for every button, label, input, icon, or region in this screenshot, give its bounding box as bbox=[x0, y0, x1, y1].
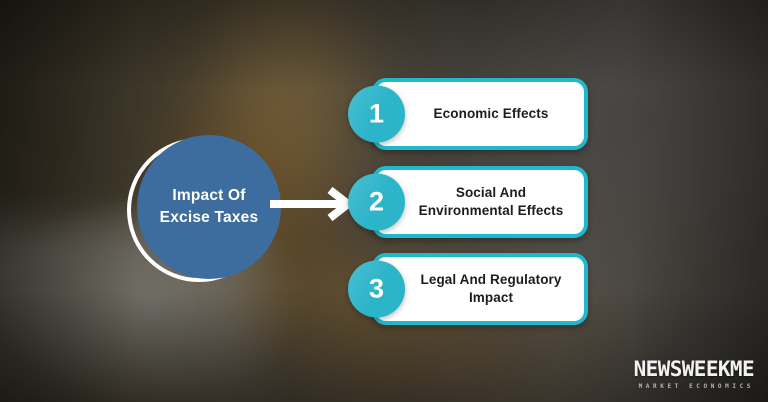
hub-label-line-2: Excise Taxes bbox=[160, 207, 259, 229]
list-item[interactable]: 1 Economic Effects bbox=[372, 78, 588, 150]
step-number-badge: 3 bbox=[348, 261, 405, 318]
card-label-line-1: Social And bbox=[408, 184, 574, 202]
hub-node: Impact Of Excise Taxes bbox=[137, 135, 281, 279]
list-item[interactable]: 2 Social And Environmental Effects bbox=[372, 166, 588, 238]
logo-tagline: MARKET ECONOMICS bbox=[634, 384, 754, 390]
card-label: Legal And Regulatory Impact bbox=[408, 271, 574, 307]
step-number: 1 bbox=[369, 99, 384, 130]
arrow-right-icon bbox=[268, 186, 358, 222]
card-label: Economic Effects bbox=[408, 105, 574, 123]
infographic-canvas: Impact Of Excise Taxes 1 Economic Effect… bbox=[0, 0, 768, 402]
step-number: 3 bbox=[369, 274, 384, 305]
card-label-line-2: Impact bbox=[408, 289, 574, 307]
card-label: Social And Environmental Effects bbox=[408, 184, 574, 220]
step-number: 2 bbox=[369, 187, 384, 218]
step-number-badge: 1 bbox=[348, 86, 405, 143]
brand-logo: NEWSWEEKME MARKET ECONOMICS bbox=[634, 359, 754, 390]
card-label-line-1: Economic Effects bbox=[434, 106, 549, 121]
card-label-line-2: Environmental Effects bbox=[408, 202, 574, 220]
step-number-badge: 2 bbox=[348, 174, 405, 231]
logo-wordmark: NEWSWEEKME bbox=[634, 359, 754, 380]
hub-label-line-1: Impact Of bbox=[172, 185, 245, 207]
card-label-line-1: Legal And Regulatory bbox=[408, 271, 574, 289]
hub-label: Impact Of Excise Taxes bbox=[137, 135, 281, 279]
list-item[interactable]: 3 Legal And Regulatory Impact bbox=[372, 253, 588, 325]
